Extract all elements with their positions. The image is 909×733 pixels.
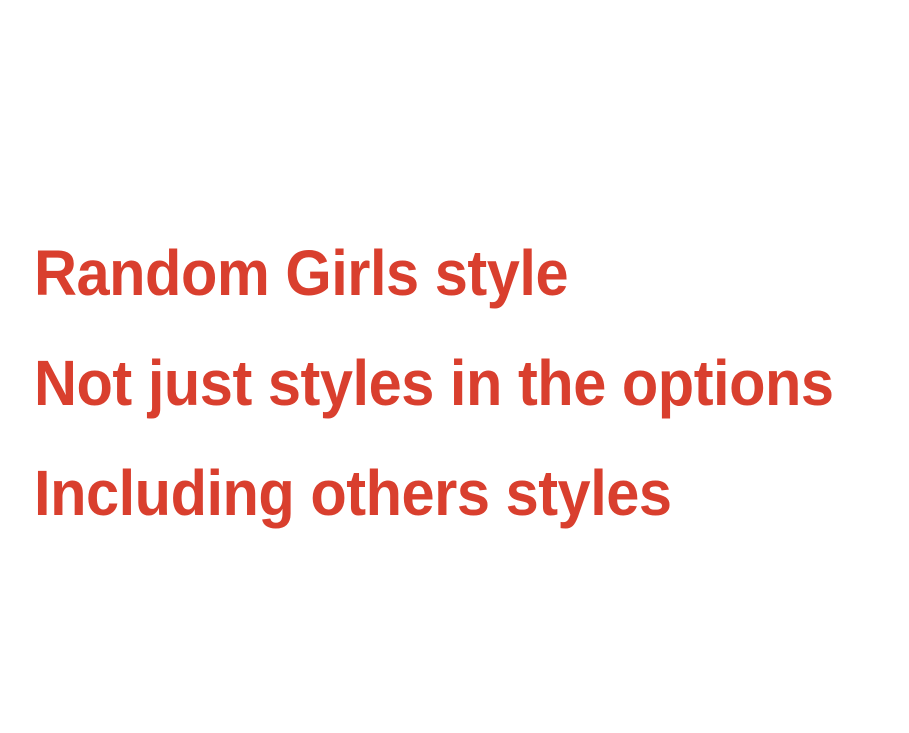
headline-line-1: Random Girls style <box>34 218 843 328</box>
headline-text-block: Random Girls style Not just styles in th… <box>34 218 904 548</box>
headline-line-2: Not just styles in the options <box>34 328 843 438</box>
page-canvas: Random Girls style Not just styles in th… <box>0 0 909 733</box>
headline-line-3: Including others styles <box>34 438 843 548</box>
